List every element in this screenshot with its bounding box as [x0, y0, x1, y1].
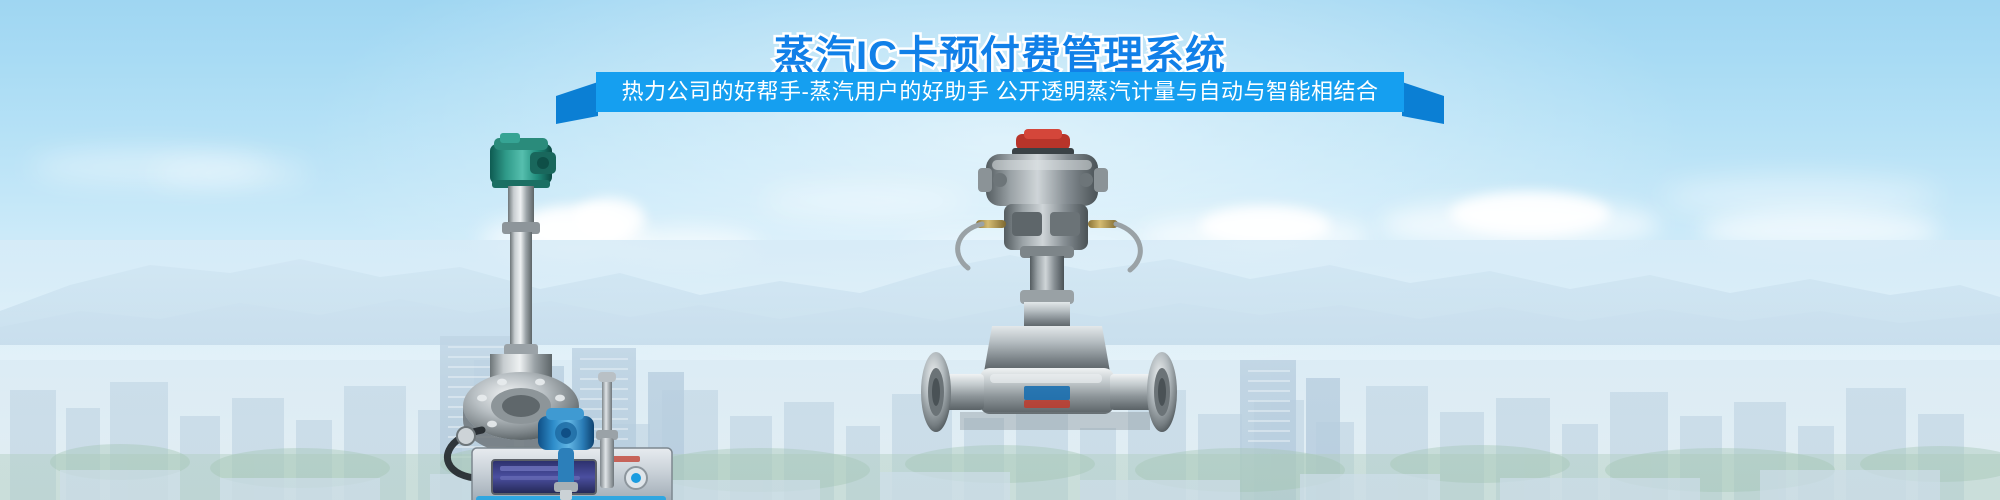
pneumatic-actuated-control-valve — [920, 128, 1190, 498]
ribbon-fold-left-icon — [556, 82, 598, 124]
probe-rod — [596, 372, 618, 488]
cloud-icon — [150, 160, 310, 186]
cable-gland — [457, 427, 475, 445]
red-actuator-cap — [1012, 129, 1074, 156]
valve-bonnet — [1020, 256, 1074, 328]
subtitle-ribbon: 热力公司的好帮手-蒸汽用户的好助手 公开透明蒸汽计量与自动与智能相结合 — [0, 72, 2000, 124]
stem — [502, 186, 540, 356]
blue-temperature-pressure-probes — [528, 370, 658, 500]
blue-transmitter — [538, 408, 594, 500]
green-sensor-head — [490, 133, 556, 188]
page-subtitle: 热力公司的好帮手-蒸汽用户的好助手 公开透明蒸汽计量与自动与智能相结合 — [596, 72, 1405, 112]
actuator-body — [978, 154, 1108, 206]
valve-label — [1024, 386, 1070, 408]
hero-banner: 蒸汽IC卡预付费管理系统 热力公司的好帮手-蒸汽用户的好助手 公开透明蒸汽计量与… — [0, 0, 2000, 500]
ribbon-fold-right-icon — [1402, 82, 1444, 124]
